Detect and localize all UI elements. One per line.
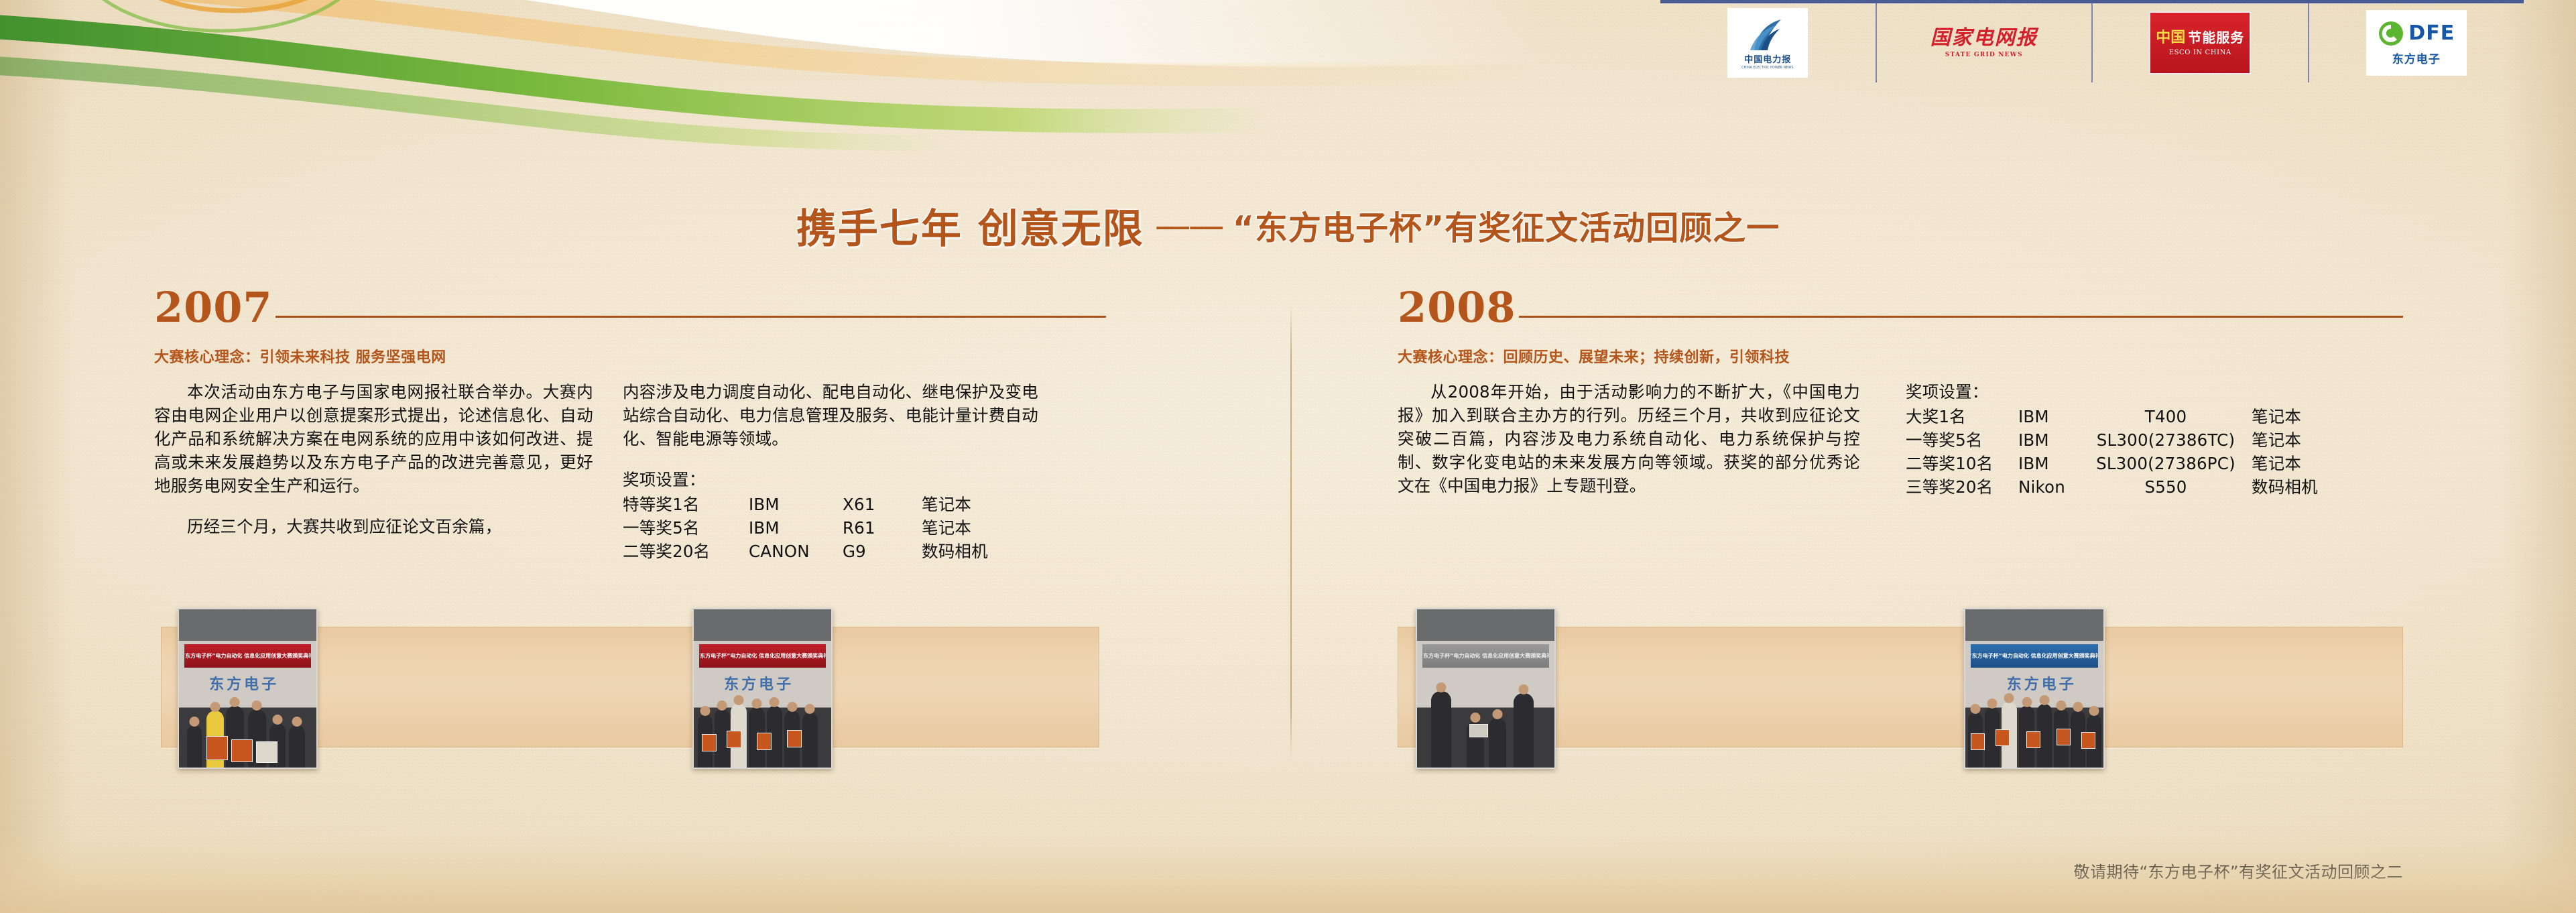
award-model: SL300(27386TC) — [2080, 428, 2252, 452]
table-row: 三等奖20名 Nikon S550 数码相机 — [1906, 475, 2318, 499]
column-left: 从2008年开始，由于活动影响力的不断扩大，《中国电力报》加入到联合主办方的行列… — [1398, 380, 1860, 515]
cepn-mark-icon — [1746, 17, 1789, 54]
award-model: SL300(27386PC) — [2080, 452, 2252, 475]
awards-list: 奖项设置： 大奖1名 IBM T400 笔记本 一等奖5名 IBM SL300(… — [1906, 380, 2398, 499]
headline-subtitle: “东方电子杯”有奖征文活动回顾之一 — [1233, 209, 1780, 247]
award-brand: IBM — [2018, 452, 2080, 475]
logo-abbr-text: DFE — [2408, 23, 2455, 44]
logo-cn-text: 中国电力报 — [1744, 56, 1791, 64]
award-prize: 笔记本 — [922, 516, 988, 540]
award-prize: 笔记本 — [2252, 428, 2318, 452]
logo-china-electric-power-news: 中国电力报 CHINA ELECTRIC POWER NEWS — [1660, 3, 1877, 82]
table-row: 一等奖5名 IBM R61 笔记本 — [623, 516, 988, 540]
table-row: 一等奖5名 IBM SL300(27386TC) 笔记本 — [1906, 428, 2318, 452]
logo-box: 中国电力报 CHINA ELECTRIC POWER NEWS — [1727, 8, 1808, 78]
logo-esco-in-china: 中国 节能服务 ESCO IN CHINA — [2093, 3, 2309, 82]
logo-cn-text: 节能服务 — [2188, 31, 2244, 44]
section-divider — [1290, 303, 1292, 759]
section-tagline: 大赛核心理念：引领未来科技 服务坚强电网 — [154, 345, 1106, 367]
logo-cn-text: 国家电网报 — [1930, 28, 2038, 48]
photo-prize-box — [2057, 729, 2071, 745]
section-tagline: 大赛核心理念：回顾历史、展望未来；持续创新，引领科技 — [1398, 345, 2403, 367]
photo-banner-text: “东方电子杯”电力自动化 信息化应用创意大赛颁奖典礼 — [1422, 644, 1549, 668]
photo-banner-text: “东方电子杯”电力自动化 信息化应用创意大赛颁奖典礼 — [1971, 644, 2098, 668]
logo-box: 中国 节能服务 ESCO IN CHINA — [2149, 11, 2251, 74]
year-heading: 2008 — [1398, 288, 2403, 326]
poster-canvas: 中国电力报 CHINA ELECTRIC POWER NEWS 国家电网报 ST… — [0, 0, 2576, 913]
award-rank: 二等奖10名 — [1906, 452, 2018, 475]
table-row: 大奖1名 IBM T400 笔记本 — [1906, 405, 2318, 428]
award-prize: 数码相机 — [922, 540, 988, 563]
award-rank: 大奖1名 — [1906, 405, 2018, 428]
award-rank: 二等奖20名 — [623, 540, 749, 563]
photo-banner-text: “东方电子杯”电力自动化 信息化应用创意大赛颁奖典礼 — [184, 644, 311, 668]
photo-strip-2007: “东方电子杯”电力自动化 信息化应用创意大赛颁奖典礼 东方电子 “东方电子杯”电… — [161, 627, 1099, 747]
award-rank: 特等奖1名 — [623, 493, 749, 516]
logo-en-text: CHINA ELECTRIC POWER NEWS — [1742, 66, 1794, 70]
year-number: 2007 — [154, 288, 273, 326]
award-brand: IBM — [749, 493, 843, 516]
table-row: 二等奖10名 IBM SL300(27386PC) 笔记本 — [1906, 452, 2318, 475]
photo-prize-box — [256, 741, 278, 763]
body-paragraph: 内容涉及电力调度自动化、配电自动化、继电保护及变电站综合自动化、电力信息管理及服… — [623, 380, 1038, 450]
award-rank: 一等奖5名 — [1906, 428, 2018, 452]
award-brand: IBM — [2018, 405, 2080, 428]
logo-row: DFE — [2378, 20, 2455, 47]
footer-note: 敬请期待“东方电子杯”有奖征文活动回顾之二 — [2074, 859, 2403, 882]
award-prize: 笔记本 — [2252, 405, 2318, 428]
column-left: 本次活动由东方电子与国家电网报社联合举办。大赛内容由电网企业用户以创意提案形式提… — [154, 380, 593, 563]
year-rule — [275, 316, 1106, 318]
awards-table: 大奖1名 IBM T400 笔记本 一等奖5名 IBM SL300(27386T… — [1906, 405, 2318, 499]
award-prize: 笔记本 — [2252, 452, 2318, 475]
year-number: 2008 — [1398, 288, 1516, 326]
year-heading: 2007 — [154, 288, 1106, 326]
photo-award-ceremony: “东方电子杯”电力自动化 信息化应用创意大赛颁奖典礼 东方电子 — [178, 608, 318, 769]
page-title: 携手七年 创意无限——“东方电子杯”有奖征文活动回顾之一 — [0, 196, 2576, 255]
photo-prize-box — [702, 734, 717, 751]
body-paragraph: 本次活动由东方电子与国家电网报社联合举办。大赛内容由电网企业用户以创意提案形式提… — [154, 380, 593, 497]
body-paragraph: 历经三个月，大赛共收到应征论文百余篇， — [154, 515, 593, 538]
photo-strip-2008: “东方电子杯”电力自动化 信息化应用创意大赛颁奖典礼 “东方电子杯”电力自动化 … — [1398, 627, 2403, 747]
awards-table: 特等奖1名 IBM X61 笔记本 一等奖5名 IBM R61 笔记本 — [623, 493, 988, 563]
photo-prize-box — [757, 733, 772, 750]
photo-people — [179, 679, 316, 768]
award-model: S550 — [2080, 475, 2252, 499]
logo-row: 中国 节能服务 — [2156, 30, 2244, 45]
photo-prize-box — [1971, 733, 1985, 750]
photo-prize-box — [2026, 731, 2040, 748]
photo-group-award: “东方电子杯”电力自动化 信息化应用创意大赛颁奖典礼 东方电子 — [692, 608, 833, 769]
award-model: X61 — [843, 493, 922, 516]
logo-cn-mark: 中国 — [2156, 30, 2185, 45]
headline-dash: —— — [1155, 204, 1222, 247]
section-columns: 本次活动由东方电子与国家电网报社联合举办。大赛内容由电网企业用户以创意提案形式提… — [154, 380, 1106, 563]
table-row: 特等奖1名 IBM X61 笔记本 — [623, 493, 988, 516]
sponsor-logo-bar: 中国电力报 CHINA ELECTRIC POWER NEWS 国家电网报 ST… — [1660, 0, 2524, 82]
photo-people — [694, 679, 831, 768]
award-prize: 数码相机 — [2252, 475, 2318, 499]
award-brand: IBM — [2018, 428, 2080, 452]
photo-people — [1965, 679, 2103, 768]
logo-dongfang-electronics: DFE 东方电子 — [2309, 3, 2524, 82]
column-right: 内容涉及电力调度自动化、配电自动化、继电保护及变电站综合自动化、电力信息管理及服… — [623, 380, 1038, 563]
award-model: R61 — [843, 516, 922, 540]
photo-prize-box — [1996, 729, 2010, 746]
photo-prize-box — [787, 730, 802, 747]
award-rank: 一等奖5名 — [623, 516, 749, 540]
photo-prize-box — [206, 736, 228, 760]
year-rule — [1519, 316, 2403, 318]
photo-prize-box — [727, 731, 741, 748]
award-brand: Nikon — [2018, 475, 2080, 499]
photo-banner-text: “东方电子杯”电力自动化 信息化应用创意大赛颁奖典礼 — [699, 644, 826, 668]
awards-title: 奖项设置： — [1906, 380, 2398, 404]
photo-prize-box — [2081, 732, 2095, 749]
section-columns: 从2008年开始，由于活动影响力的不断扩大，《中国电力报》加入到联合主办方的行列… — [1398, 380, 2403, 515]
awards-list: 奖项设置： 特等奖1名 IBM X61 笔记本 一等奖5名 IBM R61 — [623, 468, 1038, 563]
award-model: T400 — [2080, 405, 2252, 428]
photo-prize-box — [231, 739, 253, 762]
awards-title: 奖项设置： — [623, 468, 1038, 491]
logo-cn-text: 东方电子 — [2392, 50, 2441, 66]
award-prize: 笔记本 — [922, 493, 988, 516]
green-swoosh-decoration — [0, 0, 1542, 154]
logo-state-grid-news: 国家电网报 STATE GRID NEWS — [1877, 3, 2093, 82]
award-brand: CANON — [749, 540, 843, 563]
award-rank: 三等奖20名 — [1906, 475, 2018, 499]
award-model: G9 — [843, 540, 922, 563]
logo-en-text: ESCO IN CHINA — [2169, 49, 2231, 56]
section-2008: 2008 大赛核心理念：回顾历史、展望未来；持续创新，引领科技 从2008年开始… — [1398, 288, 2403, 515]
logo-box: 国家电网报 STATE GRID NEWS — [1930, 28, 2038, 58]
dfe-green-circle-icon — [2378, 20, 2404, 47]
photo-prize-box — [1469, 724, 1488, 737]
body-paragraph: 从2008年开始，由于活动影响力的不断扩大，《中国电力报》加入到联合主办方的行列… — [1398, 380, 1860, 497]
logo-box: DFE 东方电子 — [2366, 10, 2467, 76]
photo-people — [1417, 679, 1554, 768]
section-2007: 2007 大赛核心理念：引领未来科技 服务坚强电网 本次活动由东方电子与国家电网… — [154, 288, 1106, 563]
logo-en-text: STATE GRID NEWS — [1945, 52, 2023, 58]
column-right: 奖项设置： 大奖1名 IBM T400 笔记本 一等奖5名 IBM SL300(… — [1906, 380, 2398, 515]
table-row: 二等奖20名 CANON G9 数码相机 — [623, 540, 988, 563]
photo-group-award: “东方电子杯”电力自动化 信息化应用创意大赛颁奖典礼 东方电子 — [1964, 608, 2105, 769]
photo-award-handover: “东方电子杯”电力自动化 信息化应用创意大赛颁奖典礼 — [1416, 608, 1556, 769]
award-brand: IBM — [749, 516, 843, 540]
headline-main: 携手七年 创意无限 — [796, 206, 1144, 253]
